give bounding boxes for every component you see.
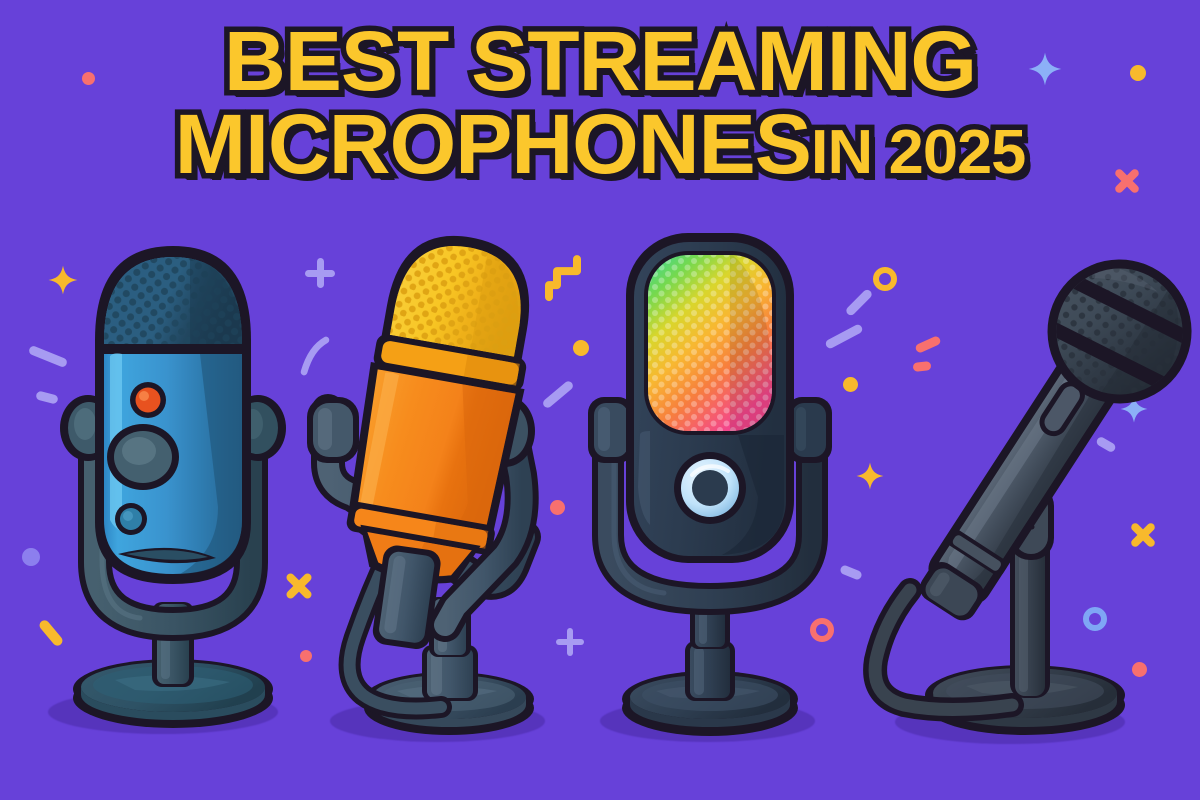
title-line-2: MICROPHONESIN 2025: [0, 105, 1200, 184]
lavender-dot-confetti: [22, 548, 40, 566]
mic1-gain-knob: [115, 503, 147, 535]
mic1-led-indicator: [130, 382, 166, 418]
microphone-dynamic-handheld[interactable]: [862, 218, 1162, 746]
mic2-mount-knob-left: [307, 397, 359, 463]
title-line-2-main: MICROPHONES: [175, 97, 811, 191]
microphone-rgb-usb[interactable]: [580, 225, 840, 745]
yellow-dot-confetti: [1130, 65, 1146, 81]
title-line-1: BEST STREAMING: [0, 22, 1200, 101]
mic3-mute-knob: [674, 452, 746, 524]
yellow-dot-confetti: [843, 377, 858, 392]
coral-dot-confetti: [82, 72, 95, 85]
mic3-capsule: [626, 233, 794, 563]
page-title: BEST STREAMING MICROPHONESIN 2025: [0, 22, 1200, 184]
microphone-usb-condenser-blue[interactable]: [40, 232, 310, 742]
mic1-capsule: [95, 246, 251, 584]
blue-star-confetti: [1028, 52, 1062, 86]
lavender-dash-confetti: [839, 564, 863, 581]
title-line-2-small: IN 2025: [811, 118, 1025, 187]
poster-canvas: BEST STREAMING MICROPHONESIN 2025: [0, 0, 1200, 800]
sparkle-icon: [1028, 52, 1062, 86]
coral-x-confetti: [1112, 166, 1142, 196]
microphone-condenser-orange[interactable]: [305, 225, 575, 745]
mic1-volume-knob: [107, 424, 179, 490]
